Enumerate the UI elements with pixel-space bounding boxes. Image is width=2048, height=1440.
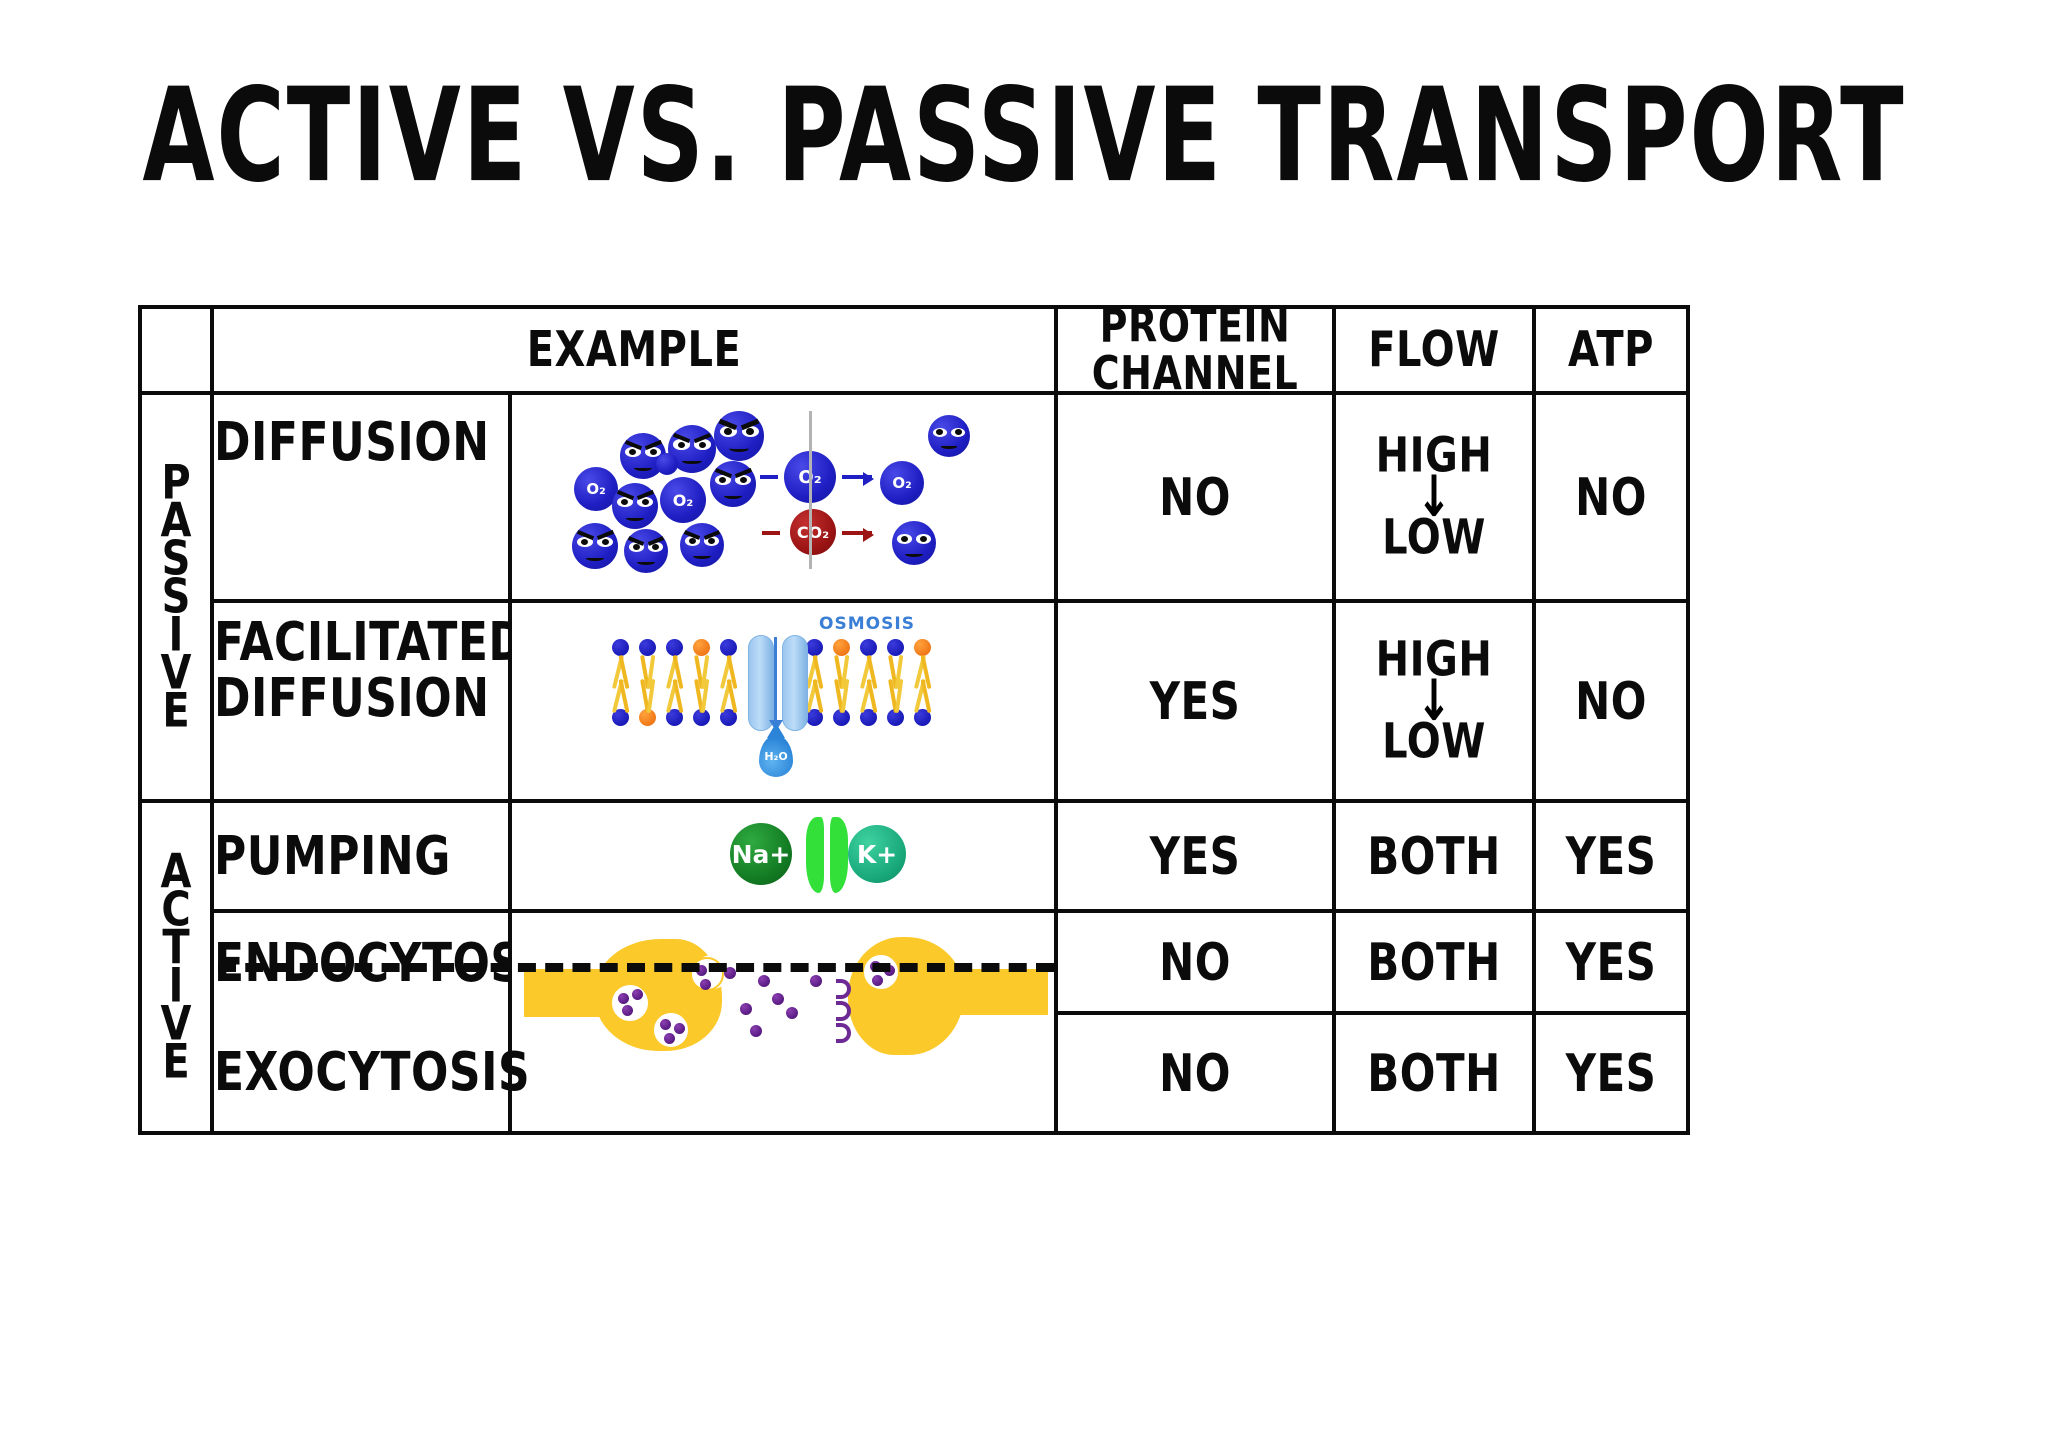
value-protein-channel: NO [1159, 467, 1231, 527]
cell-protein-channel-exocytosis: NO [1056, 1013, 1334, 1133]
row-label-diffusion-text: DIFFUSION [214, 411, 490, 473]
active-letter: E [162, 1040, 189, 1085]
table-row: ACTIVE PUMPING Na+K+ YES BOTH YES [140, 801, 1688, 911]
table-row: PASSIVE DIFFUSION O₂O₂O₂CO₂O₂ NO HIGH ↓ … [140, 393, 1688, 601]
molecule-label: O₂ [673, 491, 694, 510]
illustration-pumping: Na+K+ [510, 801, 1056, 911]
vesicle-cargo [884, 965, 895, 976]
potassium-ion: K+ [848, 825, 906, 883]
sodium-ion: Na+ [730, 823, 792, 885]
table-row: ENDOCYTOSIS NO BOTH YES [140, 911, 1688, 1013]
illustration-osmosis: OSMOSISH₂O [510, 601, 1056, 801]
phospholipid-head [612, 639, 629, 656]
passive-letter: E [162, 689, 189, 734]
phospholipid-head [806, 639, 823, 656]
table-row: FACILITATED DIFFUSION OSMOSISH₂O YES HIG… [140, 601, 1688, 801]
vesicle-cargo [622, 1005, 633, 1016]
header-protein-channel: PROTEIN CHANNEL [1056, 307, 1334, 393]
oxygen-molecule [680, 523, 724, 567]
cell-atp-endocytosis: YES [1534, 911, 1688, 1013]
phospholipid-head [720, 639, 737, 656]
header-flow: FLOW [1334, 307, 1534, 393]
flow-bottom-label: LOW [1382, 514, 1486, 562]
header-protein-line1: PROTEIN [1092, 303, 1298, 350]
header-atp: ATP [1534, 307, 1688, 393]
membrane-line [809, 411, 812, 569]
row-label-pumping: PUMPING [212, 801, 510, 911]
row-label-facilitated-diffusion: FACILITATED DIFFUSION [212, 601, 510, 801]
pump-protein-half [830, 817, 848, 893]
cartoon-face-icon [612, 483, 658, 529]
diffusion-arrow-co2 [842, 531, 872, 535]
transported-molecule [786, 1007, 798, 1019]
cell-flow-endocytosis: BOTH [1334, 911, 1534, 1013]
cell-protein-channel-facilitated: YES [1056, 601, 1334, 801]
phospholipid-head [666, 639, 683, 656]
membrane-receptor-hook [836, 1023, 851, 1043]
vesicle-cargo [618, 993, 629, 1004]
value-atp: NO [1575, 467, 1647, 527]
cartoon-face-icon [710, 461, 756, 507]
row-label-exocytosis-text: EXOCYTOSIS [214, 1041, 530, 1103]
membrane-protein-head [833, 639, 850, 656]
cell-atp-pumping: YES [1534, 801, 1688, 911]
molecule-label: CO₂ [797, 523, 829, 542]
vesicle-cargo [696, 965, 707, 976]
illustration-endo-exocytosis [510, 911, 1056, 1133]
membrane-protein-head [693, 639, 710, 656]
cartoon-face-icon [714, 411, 764, 461]
cell-protein-channel-diffusion: NO [1056, 393, 1334, 601]
protein-channel-half [782, 635, 808, 731]
membrane-receptor-hook [836, 1001, 851, 1021]
vesicle-cargo [674, 1023, 685, 1034]
cell-atp-diffusion: NO [1534, 393, 1688, 601]
row-label-pumping-text: PUMPING [214, 825, 451, 887]
table-header-row: EXAMPLE PROTEIN CHANNEL FLOW ATP [140, 307, 1688, 393]
cartoon-face-icon [892, 521, 936, 565]
value-flow: BOTH [1367, 932, 1501, 992]
oxygen-molecule [656, 453, 678, 475]
phospholipid-head [860, 639, 877, 656]
osmosis-label: OSMOSIS [819, 614, 915, 634]
transported-molecule [750, 1025, 762, 1037]
vesicle-cargo [660, 1019, 671, 1030]
molecule-label: O₂ [586, 480, 605, 498]
value-protein-channel: NO [1159, 1043, 1231, 1103]
protein-channel-half [748, 635, 774, 731]
illustration-diffusion: O₂O₂O₂CO₂O₂ [510, 393, 1056, 601]
transported-molecule [810, 975, 822, 987]
cell-flow-diffusion: HIGH ↓ LOW [1334, 393, 1534, 601]
cartoon-face-icon [572, 523, 618, 569]
header-protein-line2: CHANNEL [1092, 350, 1298, 397]
membrane-protein-head [914, 639, 931, 656]
row-label-exocytosis: EXOCYTOSIS [212, 1013, 510, 1133]
vesicle-cargo [870, 961, 881, 972]
header-category-blank [140, 307, 212, 393]
oxygen-molecule [572, 523, 618, 569]
row-label-facilitated-line1: FACILITATED [214, 615, 525, 671]
molecule-label: O₂ [892, 474, 911, 492]
carbon-dioxide-molecule: CO₂ [790, 509, 836, 555]
category-label-active: ACTIVE [140, 801, 212, 1133]
transported-molecule [772, 993, 784, 1005]
osmosis-flow-arrow-icon [774, 637, 777, 721]
row-label-facilitated-line2: DIFFUSION [214, 671, 525, 727]
oxygen-molecule [710, 461, 756, 507]
cell-flow-exocytosis: BOTH [1334, 1013, 1534, 1133]
cell-protein-channel-endocytosis: NO [1056, 911, 1334, 1013]
oxygen-molecule [714, 411, 764, 461]
oxygen-molecule: O₂ [660, 477, 706, 523]
poster-root: ACTIVE VS. PASSIVE TRANSPORT EXAMPLE PRO… [0, 0, 2048, 1440]
header-atp-label: ATP [1568, 322, 1654, 378]
oxygen-molecule [624, 529, 668, 573]
cell-flow-facilitated: HIGH ↓ LOW [1334, 601, 1534, 801]
flow-bottom-label: LOW [1382, 718, 1486, 766]
vesicle-left-upper [610, 983, 650, 1023]
cartoon-face-icon [624, 529, 668, 573]
cartoon-face-icon [680, 523, 724, 567]
diffusion-arrow-o2 [842, 475, 872, 479]
value-atp: NO [1575, 671, 1647, 731]
row-label-diffusion: DIFFUSION [212, 393, 510, 601]
cell-right [938, 969, 1048, 1015]
vesicle-cargo [664, 1033, 675, 1044]
cell-atp-facilitated: NO [1534, 601, 1688, 801]
cell-flow-pumping: BOTH [1334, 801, 1534, 911]
pump-protein-half [806, 817, 824, 893]
transport-comparison-table: EXAMPLE PROTEIN CHANNEL FLOW ATP [138, 305, 1686, 1135]
oxygen-molecule [612, 483, 658, 529]
transported-molecule [758, 975, 770, 987]
diffusion-arrow-tail-o2 [760, 475, 778, 479]
diffusion-arrow-tail-co2 [762, 531, 780, 535]
category-label-passive: PASSIVE [140, 393, 212, 801]
cartoon-face-icon [928, 415, 970, 457]
vesicle-cargo [872, 975, 883, 986]
phospholipid-head [887, 639, 904, 656]
oxygen-molecule [928, 415, 970, 457]
header-example-label: EXAMPLE [527, 322, 742, 378]
value-atp: YES [1566, 1043, 1657, 1103]
row-label-endocytosis: ENDOCYTOSIS [212, 911, 510, 1013]
value-protein-channel: YES [1150, 826, 1241, 886]
header-example: EXAMPLE [212, 307, 1056, 393]
value-atp: YES [1566, 932, 1657, 992]
transported-molecule [740, 1003, 752, 1015]
phospholipid-head [639, 639, 656, 656]
value-flow: BOTH [1367, 826, 1501, 886]
water-droplet: H₂O [759, 735, 793, 777]
vesicle-cargo [632, 989, 643, 1000]
value-flow: BOTH [1367, 1043, 1501, 1103]
value-protein-channel: NO [1159, 932, 1231, 992]
cell-atp-exocytosis: YES [1534, 1013, 1688, 1133]
vesicle-cargo [700, 979, 711, 990]
page-title: ACTIVE VS. PASSIVE TRANSPORT [31, 60, 2018, 211]
value-atp: YES [1566, 826, 1657, 886]
cell-protein-channel-pumping: YES [1056, 801, 1334, 911]
transported-molecule [724, 967, 736, 979]
oxygen-molecule [892, 521, 936, 565]
value-protein-channel: YES [1150, 671, 1241, 731]
header-flow-label: FLOW [1368, 322, 1500, 378]
oxygen-molecule: O₂ [880, 461, 924, 505]
